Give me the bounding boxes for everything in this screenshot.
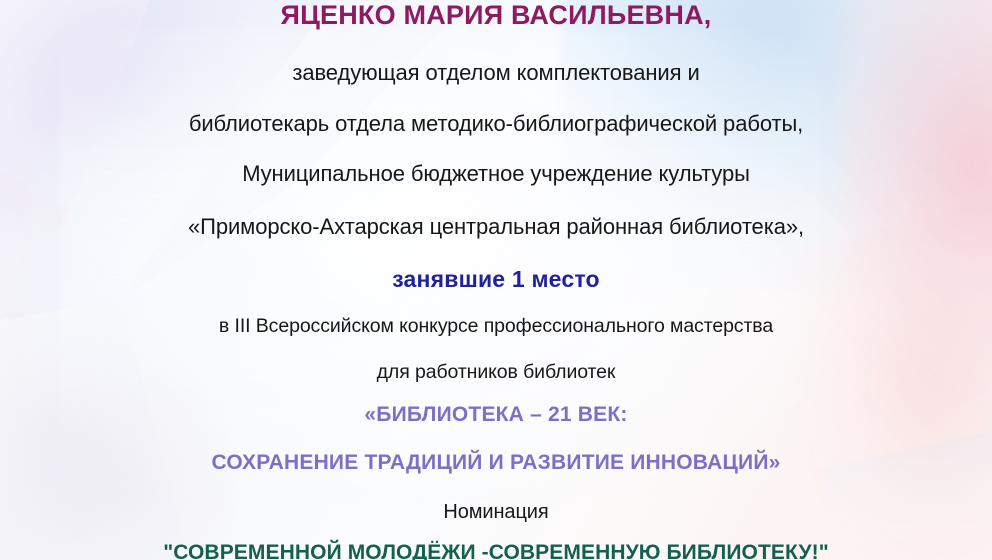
honoree-position-line-1: заведующая отделом комплектования и <box>0 62 992 84</box>
honoree-name: ЯЦЕНКО МАРИЯ ВАСИЛЬЕВНА, <box>0 2 992 29</box>
contest-description-line-1: в III Всероссийском конкурсе профессиона… <box>0 317 992 337</box>
organization-line-1: Муниципальное бюджетное учреждение культ… <box>0 163 992 185</box>
contest-title-line-1: «БИБЛИОТЕКА – 21 ВЕК: <box>0 404 992 425</box>
award-slide: ЯЦЕНКО МАРИЯ ВАСИЛЬЕВНА, заведующая отде… <box>0 0 992 560</box>
contest-description-line-2: для работников библиотек <box>0 363 992 383</box>
honoree-position-line-2: библиотекарь отдела методико-библиографи… <box>0 113 992 135</box>
nomination-value: "СОВРЕМЕННОЙ МОЛОДЁЖИ -СОВРЕМЕННУЮ БИБЛИ… <box>0 542 992 560</box>
contest-title-line-2: СОХРАНЕНИЕ ТРАДИЦИЙ И РАЗВИТИЕ ИННОВАЦИЙ… <box>0 452 992 473</box>
organization-line-2: «Приморско-Ахтарская центральная районна… <box>0 216 992 238</box>
place-awarded: занявшие 1 место <box>0 268 992 291</box>
slide-text-content: ЯЦЕНКО МАРИЯ ВАСИЛЬЕВНА, заведующая отде… <box>0 0 992 560</box>
nomination-label: Номинация <box>0 502 992 522</box>
